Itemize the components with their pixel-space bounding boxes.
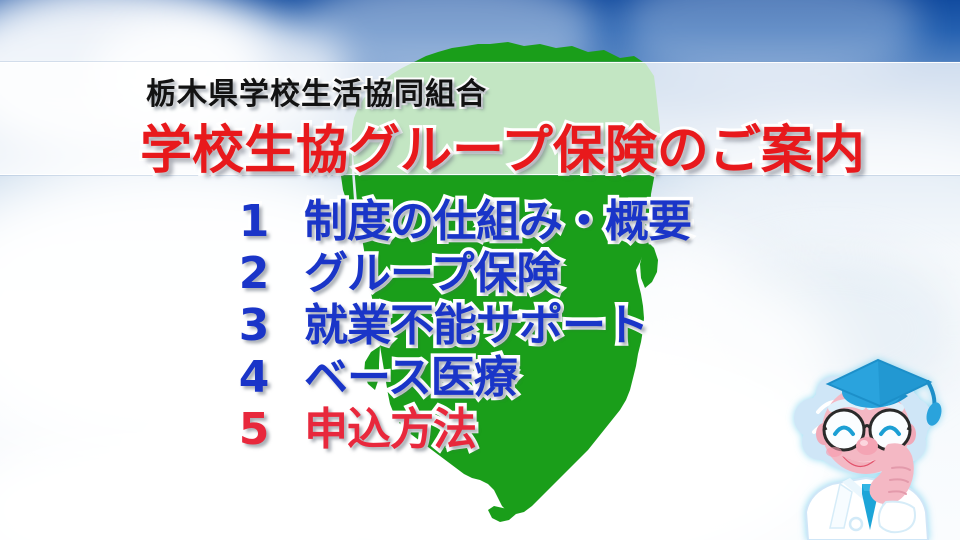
organization-name: 栃木県学校生活協同組合	[146, 69, 487, 113]
agenda-item-3[interactable]: 3 就業不能サポート	[228, 300, 748, 352]
agenda-label: ベース医療	[304, 352, 517, 404]
agenda-list: 1 制度の仕組み・概要 2 グループ保険 3 就業不能サポート 4 ベース医療 …	[228, 196, 748, 456]
agenda-item-4[interactable]: 4 ベース医療	[228, 352, 748, 404]
agenda-label: 就業不能サポート	[304, 300, 648, 352]
page-title: 学校生協グループ保険のご案内	[140, 108, 865, 183]
mascot-body-group	[794, 360, 944, 540]
professor-doctor-mascot	[770, 352, 960, 540]
presentation-slide: 栃木県学校生活協同組合 学校生協グループ保険のご案内 1 制度の仕組み・概要 2…	[0, 0, 960, 540]
agenda-label: 制度の仕組み・概要	[304, 196, 691, 248]
agenda-label: グループ保険	[304, 248, 559, 300]
agenda-item-2[interactable]: 2 グループ保険	[228, 248, 748, 300]
agenda-number: 3	[228, 300, 280, 352]
agenda-number: 4	[228, 352, 280, 404]
agenda-item-5[interactable]: 5 申込方法	[228, 404, 748, 456]
agenda-item-1[interactable]: 1 制度の仕組み・概要	[228, 196, 748, 248]
agenda-label: 申込方法	[304, 404, 476, 456]
agenda-number: 2	[228, 248, 280, 300]
agenda-number: 5	[228, 404, 280, 456]
agenda-number: 1	[228, 196, 280, 248]
